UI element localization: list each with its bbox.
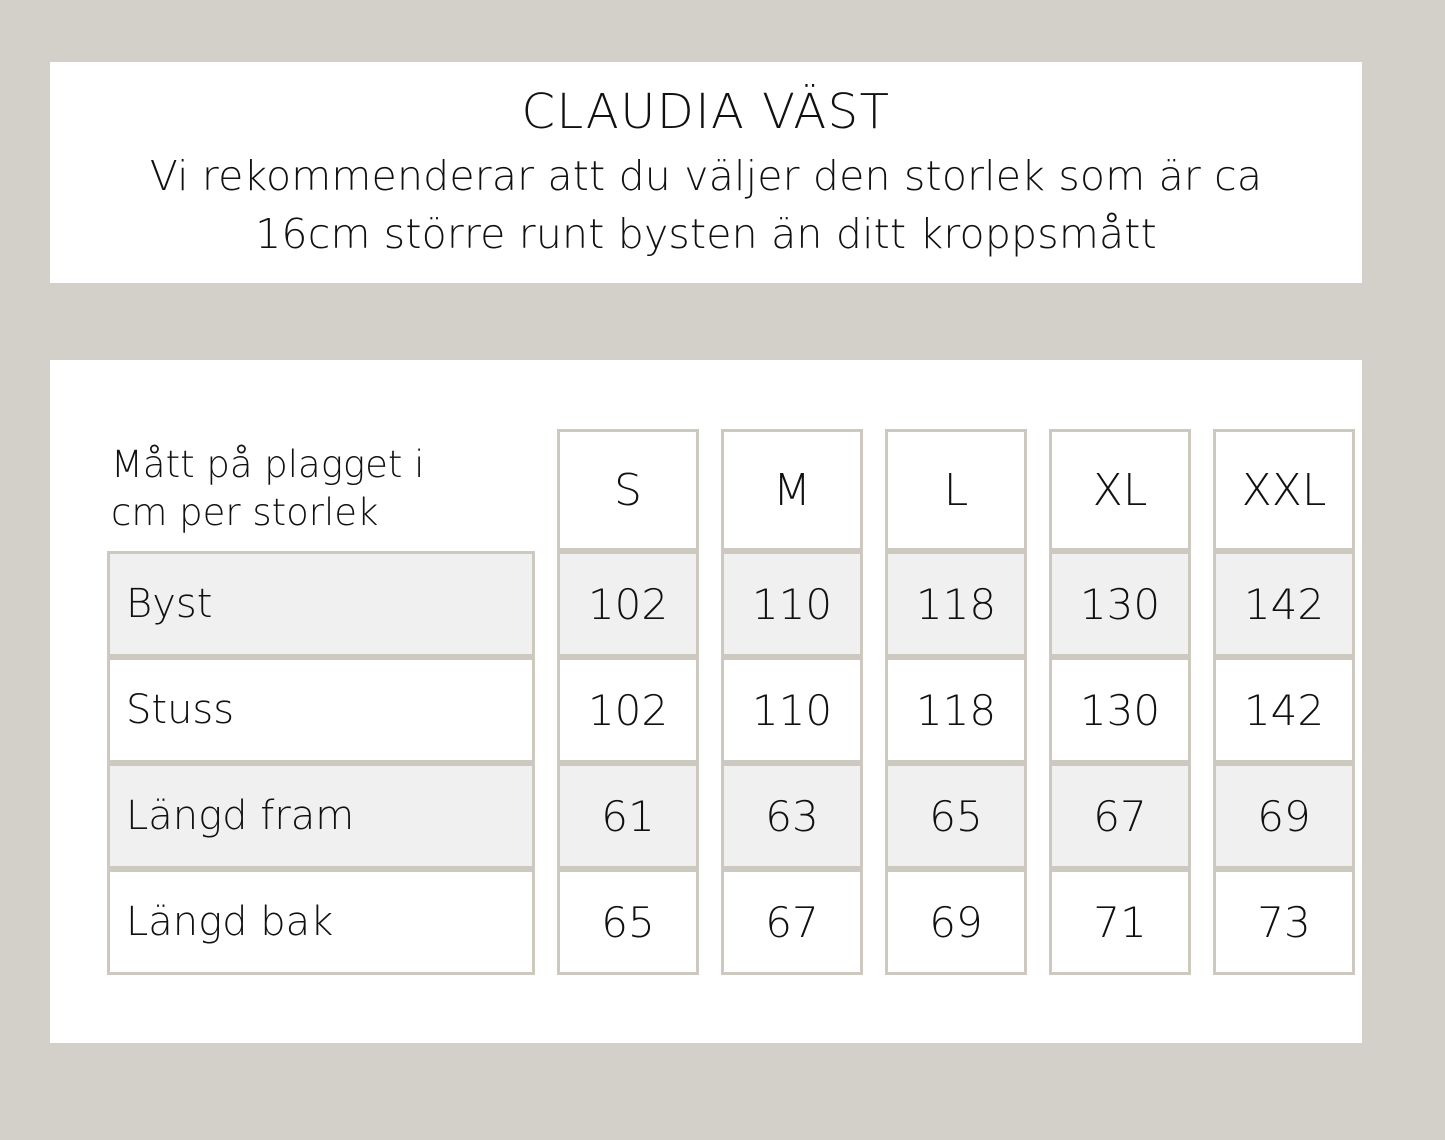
cell-byst-xxl: 142 (1213, 551, 1355, 657)
table-row: Byst 102 110 118 130 142 (107, 551, 1355, 657)
size-chart-panel: Mått på plagget i cm per storlek S M L X… (50, 360, 1362, 1043)
cell-stuss-m: 110 (721, 657, 863, 763)
row-label-stuss: Stuss (107, 657, 535, 763)
measurement-unit-label-line-2: cm per storlek (111, 489, 535, 537)
table-row: Längd fram 61 63 65 67 69 (107, 763, 1355, 869)
measurement-unit-label-line-1: Mått på plagget i (111, 441, 535, 489)
measurement-unit-label: Mått på plagget i cm per storlek (107, 429, 535, 551)
size-header-l: L (885, 429, 1027, 551)
row-label-langd-fram: Längd fram (107, 763, 535, 869)
cell-stuss-l: 118 (885, 657, 1027, 763)
cell-byst-xl: 130 (1049, 551, 1191, 657)
cell-langd-fram-xl: 67 (1049, 763, 1191, 869)
cell-langd-fram-s: 61 (557, 763, 699, 869)
cell-langd-fram-m: 63 (721, 763, 863, 869)
cell-langd-bak-m: 67 (721, 869, 863, 975)
size-header-xxl: XXL (1213, 429, 1355, 551)
table-row: Längd bak 65 67 69 71 73 (107, 869, 1355, 975)
size-header-xl: XL (1049, 429, 1191, 551)
row-label-byst: Byst (107, 551, 535, 657)
cell-stuss-xl: 130 (1049, 657, 1191, 763)
header-panel: CLAUDIA VÄST Vi rekommenderar att du väl… (50, 62, 1362, 283)
table-header-row: Mått på plagget i cm per storlek S M L X… (107, 429, 1355, 551)
cell-stuss-xxl: 142 (1213, 657, 1355, 763)
cell-langd-bak-xl: 71 (1049, 869, 1191, 975)
cell-langd-fram-xxl: 69 (1213, 763, 1355, 869)
cell-langd-bak-s: 65 (557, 869, 699, 975)
size-recommendation-text: Vi rekommenderar att du väljer den storl… (150, 147, 1263, 263)
size-header-s: S (557, 429, 699, 551)
cell-byst-m: 110 (721, 551, 863, 657)
size-header-m: M (721, 429, 863, 551)
cell-langd-bak-l: 69 (885, 869, 1027, 975)
cell-stuss-s: 102 (557, 657, 699, 763)
size-chart-table: Mått på plagget i cm per storlek S M L X… (85, 429, 1377, 975)
cell-langd-bak-xxl: 73 (1213, 869, 1355, 975)
table-row: Stuss 102 110 118 130 142 (107, 657, 1355, 763)
cell-byst-l: 118 (885, 551, 1027, 657)
size-recommendation-line-1: Vi rekommenderar att du väljer den storl… (150, 147, 1263, 205)
size-recommendation-line-2: 16cm större runt bysten än ditt kroppsmå… (150, 205, 1263, 263)
row-label-langd-bak: Längd bak (107, 869, 535, 975)
cell-byst-s: 102 (557, 551, 699, 657)
cell-langd-fram-l: 65 (885, 763, 1027, 869)
page-title: CLAUDIA VÄST (522, 84, 891, 141)
